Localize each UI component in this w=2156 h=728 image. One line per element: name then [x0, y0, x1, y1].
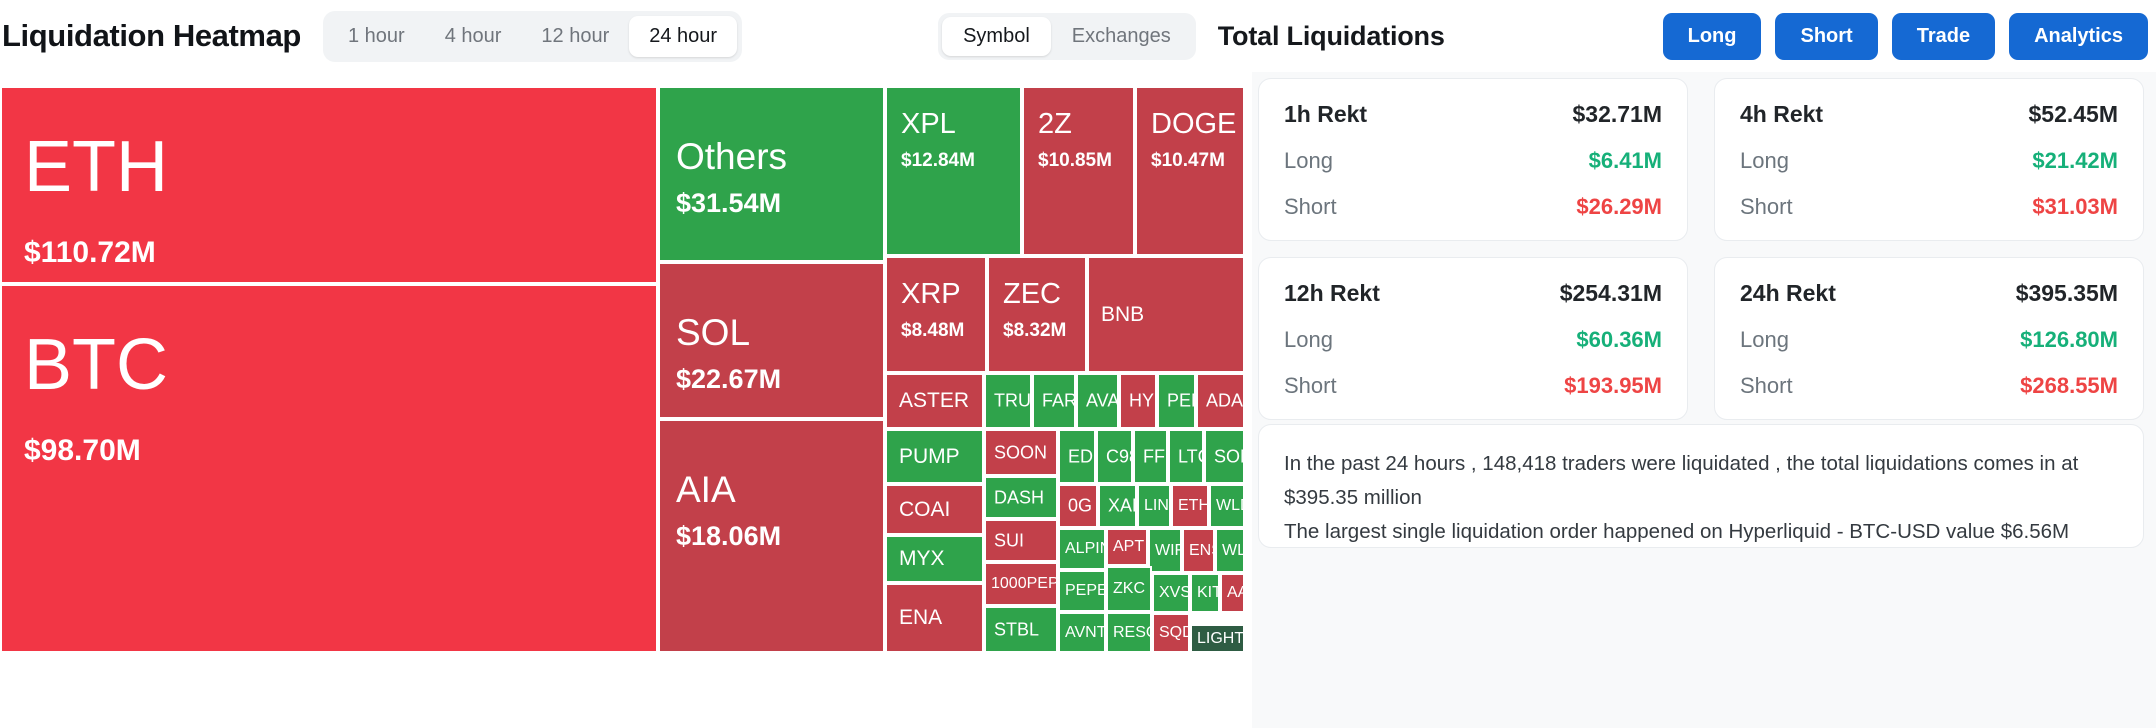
tile-symbol: LINEA: [1144, 497, 1171, 515]
view-mode-selector[interactable]: SymbolExchanges: [938, 13, 1196, 60]
treemap-tile-pump[interactable]: PUMP: [885, 429, 984, 484]
treemap-tile-coai[interactable]: COAI: [885, 484, 984, 535]
stat-long-value: $126.80M: [2020, 327, 2118, 353]
tile-symbol: ZKC: [1113, 580, 1145, 598]
stat-short-value: $193.95M: [1564, 373, 1662, 399]
treemap-tile-ethfi[interactable]: ETHFI: [1171, 484, 1209, 528]
treemap-tile-ltc[interactable]: LTC: [1168, 429, 1204, 484]
tile-value: $18.06M: [676, 521, 781, 552]
view-mode-exchanges[interactable]: Exchanges: [1051, 17, 1192, 56]
tile-symbol: ENSO: [1189, 542, 1215, 560]
timeframe-4-hour[interactable]: 4 hour: [425, 16, 522, 57]
analytics-button[interactable]: Analytics: [2009, 13, 2148, 60]
treemap-tile-others[interactable]: Others$31.54M: [658, 86, 885, 262]
action-button-group: LongShortTradeAnalytics: [1663, 13, 2148, 60]
stat-title: 24h Rekt: [1740, 280, 1836, 307]
timeframe-24-hour[interactable]: 24 hour: [629, 16, 737, 57]
tile-symbol: WIF: [1155, 542, 1182, 560]
stat-short-label: Short: [1284, 194, 1337, 220]
tile-symbol: 2Z: [1038, 108, 1072, 141]
treemap-tile-apt[interactable]: APT: [1106, 528, 1148, 566]
tile-symbol: EDEN: [1068, 446, 1096, 467]
treemap-tile-zec[interactable]: ZEC$8.32M: [987, 256, 1087, 373]
timeframe-12-hour[interactable]: 12 hour: [521, 16, 629, 57]
tile-value: $8.32M: [1003, 320, 1066, 342]
view-mode-symbol[interactable]: Symbol: [942, 17, 1051, 56]
tile-symbol: Others: [676, 136, 787, 178]
treemap-tile-resolv[interactable]: RESOLV: [1106, 612, 1152, 653]
tile-symbol: AIA: [676, 469, 736, 511]
tile-symbol: PENGU: [1167, 391, 1196, 412]
treemap-tile-xpl[interactable]: XPL$12.84M: [885, 86, 1022, 256]
short-button[interactable]: Short: [1775, 13, 1877, 60]
tile-symbol: TRUMP: [994, 391, 1032, 412]
treemap-tile-aia[interactable]: AIA$18.06M: [658, 419, 885, 653]
trade-button[interactable]: Trade: [1892, 13, 1995, 60]
treemap-tile-sqd[interactable]: SQD: [1152, 613, 1190, 653]
stat-long-value: $21.42M: [2032, 148, 2118, 174]
stat-title: 1h Rekt: [1284, 101, 1367, 128]
treemap-tile-eden[interactable]: EDEN: [1058, 429, 1096, 484]
stat-card-12h: 12h Rekt$254.31MLong$60.36MShort$193.95M: [1258, 257, 1688, 420]
tile-symbol: KITE: [1197, 584, 1220, 602]
treemap-tile-avax[interactable]: AVAX: [1076, 373, 1119, 429]
tile-symbol: LTC: [1178, 446, 1204, 467]
treemap-tile-zkc[interactable]: ZKC: [1106, 566, 1152, 612]
stat-total: $254.31M: [1560, 280, 1662, 307]
tile-symbol: ETHFI: [1178, 497, 1209, 515]
tile-symbol: FF: [1143, 446, 1165, 467]
treemap-tile-kite[interactable]: KITE: [1190, 573, 1220, 613]
treemap-tile-wld[interactable]: WLD: [1209, 484, 1245, 528]
tile-symbol: LIGHTER: [1197, 630, 1245, 648]
tile-symbol: ASTER: [899, 389, 969, 413]
stat-long-label: Long: [1740, 327, 1789, 353]
treemap-tile-xan[interactable]: XAN: [1098, 484, 1137, 528]
tile-symbol: 1000PEPE: [991, 575, 1058, 593]
stat-card-24h: 24h Rekt$395.35MLong$126.80MShort$268.55…: [1714, 257, 2144, 420]
treemap-tile-fartcoin[interactable]: FARTCOIN: [1032, 373, 1076, 429]
stat-long-label: Long: [1284, 327, 1333, 353]
stat-card-4h: 4h Rekt$52.45MLong$21.42MShort$31.03M: [1714, 78, 2144, 241]
treemap-tile-aster[interactable]: ASTER: [885, 373, 984, 429]
stat-long-value: $6.41M: [1589, 148, 1662, 174]
stat-total: $52.45M: [2028, 101, 2118, 128]
tile-symbol: AVAX: [1086, 391, 1119, 412]
stat-short-value: $26.29M: [1576, 194, 1662, 220]
tile-value: $31.54M: [676, 188, 781, 219]
tile-symbol: MYX: [899, 547, 945, 571]
tile-symbol: XAN: [1108, 496, 1137, 517]
summary-line-2: The largest single liquidation order hap…: [1284, 515, 2118, 549]
tile-symbol: SOMI: [1214, 446, 1245, 467]
tile-symbol: ADA: [1206, 391, 1243, 412]
tile-symbol: HYPE: [1129, 391, 1157, 412]
stat-card-1h: 1h Rekt$32.71MLong$6.41MShort$26.29M: [1258, 78, 1688, 241]
summary-card: In the past 24 hours , 148,418 traders w…: [1258, 424, 2144, 548]
treemap-tile-wlfi[interactable]: WLFI: [1215, 528, 1245, 573]
tile-symbol: SUI: [994, 530, 1024, 551]
treemap-tile-0g[interactable]: 0G: [1058, 484, 1098, 528]
total-liquidations-heading: Total Liquidations: [1218, 21, 1445, 52]
treemap-tile-stbl[interactable]: STBL: [984, 606, 1058, 653]
timeframe-selector[interactable]: 1 hour4 hour12 hour24 hour: [323, 11, 742, 62]
tile-symbol: 0G: [1068, 496, 1092, 517]
tile-symbol: WLD: [1216, 497, 1245, 515]
tile-symbol: ALPINE: [1065, 540, 1106, 558]
tile-symbol: XPL: [901, 108, 956, 141]
summary-line-1: In the past 24 hours , 148,418 traders w…: [1284, 447, 2118, 515]
tile-symbol: WLFI: [1222, 542, 1245, 560]
stat-long-value: $60.36M: [1576, 327, 1662, 353]
tile-symbol: PEPE: [1065, 582, 1106, 600]
treemap-tile-somi[interactable]: SOMI: [1204, 429, 1245, 484]
treemap-tile-ada[interactable]: ADA: [1196, 373, 1245, 429]
tile-symbol: COAI: [899, 498, 950, 522]
tile-value: $8.48M: [901, 320, 964, 342]
tile-symbol: XRP: [901, 278, 961, 311]
tile-symbol: SOL: [676, 312, 750, 354]
treemap-tile-soon[interactable]: SOON: [984, 429, 1058, 476]
liquidation-treemap[interactable]: ETH$110.72MBTC$98.70MOthers$31.54MSOL$22…: [0, 86, 1245, 653]
tile-symbol: FARTCOIN: [1042, 391, 1076, 412]
treemap-tile-dash[interactable]: DASH: [984, 476, 1058, 519]
treemap-tile-c98[interactable]: C98: [1096, 429, 1133, 484]
stat-short-label: Short: [1740, 194, 1793, 220]
stat-short-label: Short: [1740, 373, 1793, 399]
stats-panel: 1h Rekt$32.71MLong$6.41MShort$26.29M4h R…: [1252, 72, 2156, 728]
stat-total: $395.35M: [2016, 280, 2118, 307]
treemap-tile-alpine[interactable]: ALPINE: [1058, 528, 1106, 570]
tile-value: $12.84M: [901, 150, 975, 172]
treemap-tile-sol[interactable]: SOL$22.67M: [658, 262, 885, 419]
treemap-tile-doge[interactable]: DOGE$10.47M: [1135, 86, 1245, 256]
stat-title: 12h Rekt: [1284, 280, 1380, 307]
tile-symbol: AVNT: [1065, 624, 1106, 642]
page-title: Liquidation Heatmap: [2, 18, 301, 54]
treemap-tile-1000pepe[interactable]: 1000PEPE: [984, 562, 1058, 606]
treemap-tile-wif[interactable]: WIF: [1148, 528, 1182, 573]
treemap-tile-btc[interactable]: BTC$98.70M: [0, 284, 658, 653]
stat-short-value: $268.55M: [2020, 373, 2118, 399]
treemap-tile-sui[interactable]: SUI: [984, 519, 1058, 562]
treemap-tile-pengu[interactable]: PENGU: [1157, 373, 1196, 429]
treemap-tile-avnt[interactable]: AVNT: [1058, 612, 1106, 653]
treemap-tile-ena[interactable]: ENA: [885, 583, 984, 653]
treemap-tile-pepe[interactable]: PEPE: [1058, 570, 1106, 612]
tile-symbol: BTC: [24, 324, 168, 406]
tile-symbol: STBL: [994, 619, 1039, 640]
long-button[interactable]: Long: [1663, 13, 1762, 60]
stat-long-label: Long: [1284, 148, 1333, 174]
treemap-tile-xvs[interactable]: XVS: [1152, 573, 1190, 613]
treemap-tile-ff[interactable]: FF: [1133, 429, 1168, 484]
tile-symbol: DASH: [994, 487, 1044, 508]
tile-symbol: DOGE: [1151, 108, 1236, 141]
treemap-tile-hype[interactable]: HYPE: [1119, 373, 1157, 429]
tile-symbol: C98: [1106, 446, 1133, 467]
treemap-tile-enso[interactable]: ENSO: [1182, 528, 1215, 573]
treemap-tile-eth[interactable]: ETH$110.72M: [0, 86, 658, 284]
tile-symbol: ZEC: [1003, 278, 1061, 311]
page-header: Liquidation Heatmap 1 hour4 hour12 hour2…: [0, 0, 2156, 72]
tile-symbol: APT: [1113, 538, 1144, 556]
tile-symbol: ETH: [24, 126, 168, 208]
tile-symbol: ENA: [899, 606, 942, 630]
tile-value: $10.85M: [1038, 150, 1112, 172]
treemap-tile-xrp[interactable]: XRP$8.48M: [885, 256, 987, 373]
treemap-tile-trump[interactable]: TRUMP: [984, 373, 1032, 429]
treemap-tile-linea[interactable]: LINEA: [1137, 484, 1171, 528]
treemap-tile-2z[interactable]: 2Z$10.85M: [1022, 86, 1135, 256]
tile-value: $10.47M: [1151, 150, 1225, 172]
liquidation-heatmap-page: Liquidation Heatmap 1 hour4 hour12 hour2…: [0, 0, 2156, 728]
stat-short-value: $31.03M: [2032, 194, 2118, 220]
tile-value: $22.67M: [676, 364, 781, 395]
tile-symbol: RESOLV: [1113, 624, 1152, 642]
stat-long-label: Long: [1740, 148, 1789, 174]
stat-short-label: Short: [1284, 373, 1337, 399]
tile-symbol: BNB: [1101, 303, 1144, 327]
treemap-tile-myx[interactable]: MYX: [885, 535, 984, 583]
stat-total: $32.71M: [1572, 101, 1662, 128]
treemap-tile-aave[interactable]: AAVE: [1220, 573, 1245, 613]
tile-symbol: SQD: [1159, 624, 1190, 642]
tile-value: $98.70M: [24, 434, 141, 468]
tile-value: $110.72M: [24, 236, 156, 270]
tile-symbol: AAVE: [1227, 584, 1245, 602]
tile-symbol: XVS: [1159, 584, 1190, 602]
treemap-tile-bnb[interactable]: BNB: [1087, 256, 1245, 373]
tile-symbol: PUMP: [899, 445, 960, 469]
stat-title: 4h Rekt: [1740, 101, 1823, 128]
timeframe-1-hour[interactable]: 1 hour: [328, 16, 425, 57]
tile-symbol: SOON: [994, 442, 1047, 463]
treemap-tile-lighter[interactable]: LIGHTER: [1190, 624, 1245, 653]
